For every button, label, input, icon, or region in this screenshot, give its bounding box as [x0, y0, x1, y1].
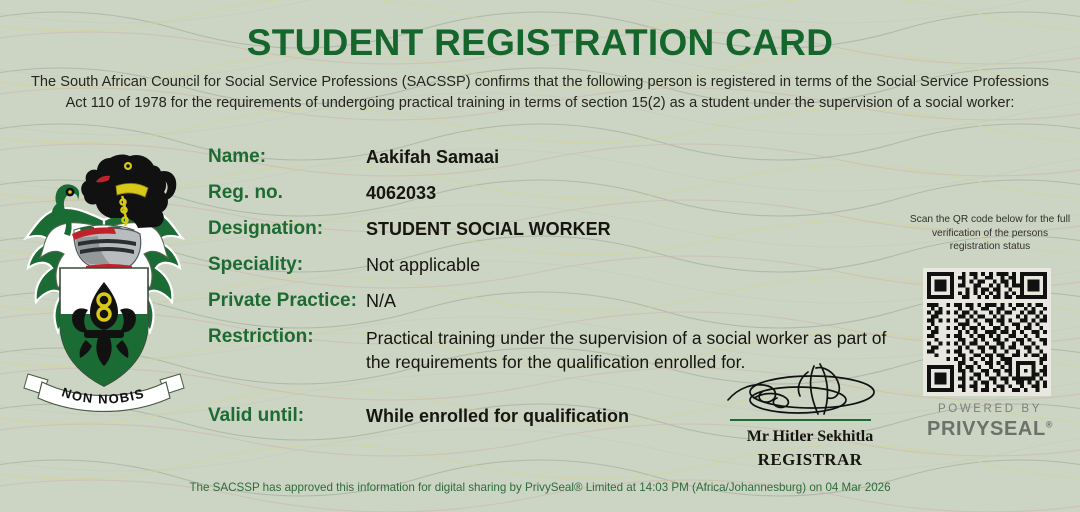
qr-instruction-text: Scan the QR code below for the full veri… [908, 213, 1072, 254]
registered-mark-icon: ® [1046, 419, 1053, 429]
handwritten-signature [720, 362, 900, 420]
page-title: STUDENT REGISTRATION CARD [0, 22, 1080, 64]
field-label-valid-until: Valid until: [208, 405, 304, 427]
field-value-valid-until: While enrolled for qualification [366, 406, 629, 427]
field-value-private-practice: N/A [366, 291, 396, 312]
field-label-restriction: Restriction: [208, 326, 314, 348]
field-row-speciality: Speciality: Not applicable [208, 254, 908, 290]
privyseal-brand: PRIVYSEAL® [908, 418, 1072, 441]
field-row-reg-no: Reg. no. 4062033 [208, 182, 908, 218]
field-label-reg-no: Reg. no. [208, 182, 283, 204]
sacssp-coat-of-arms: NON NOBIS [18, 142, 190, 412]
privyseal-brand-text: PRIVYSEAL [927, 418, 1046, 440]
signature-line [730, 419, 871, 421]
registrar-name: Mr Hitler Sekhitla [700, 428, 920, 446]
shield [60, 268, 148, 386]
field-label-private-practice: Private Practice: [208, 290, 357, 312]
qr-code[interactable] [920, 268, 1054, 396]
field-row-name: Name: Aakifah Samaai [208, 146, 908, 182]
registrar-role: REGISTRAR [700, 450, 920, 470]
field-label-designation: Designation: [208, 218, 323, 240]
footer-approval-text: The SACSSP has approved this information… [0, 481, 1080, 494]
intro-paragraph: The South African Council for Social Ser… [30, 72, 1050, 114]
field-value-speciality: Not applicable [366, 255, 480, 276]
student-registration-card: STUDENT REGISTRATION CARD The South Afri… [0, 0, 1080, 512]
powered-by-label: POWERED BY [908, 403, 1072, 415]
field-value-designation: STUDENT SOCIAL WORKER [366, 219, 611, 240]
field-value-reg-no: 4062033 [366, 183, 436, 204]
field-row-private-practice: Private Practice: N/A [208, 290, 908, 326]
field-label-name: Name: [208, 146, 266, 168]
field-row-designation: Designation: STUDENT SOCIAL WORKER [208, 218, 908, 254]
field-value-name: Aakifah Samaai [366, 147, 499, 168]
registration-fields: Name: Aakifah Samaai Reg. no. 4062033 De… [208, 146, 908, 380]
field-label-speciality: Speciality: [208, 254, 303, 276]
